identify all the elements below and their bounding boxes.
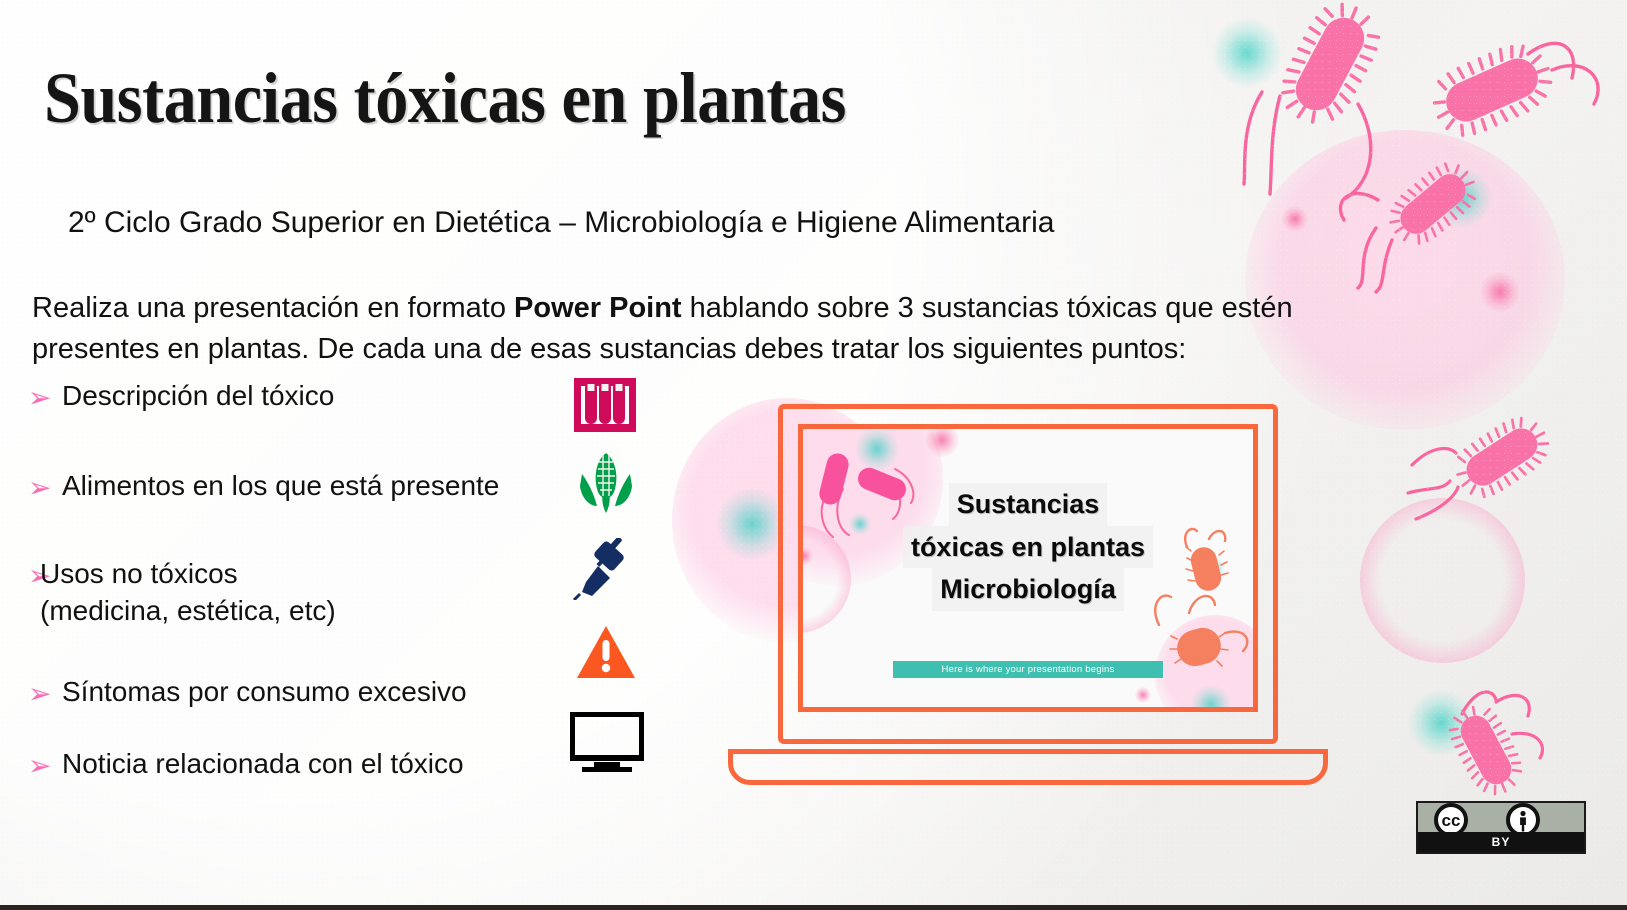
bacteria-right-middle (1370, 395, 1600, 545)
television-icon (570, 712, 644, 772)
laptop-screen: Sustancias tóxicas en plantas Microbiolo… (803, 429, 1253, 707)
laptop-lid-inner-frame: Sustancias tóxicas en plantas Microbiolo… (798, 424, 1258, 712)
screen-caption-bar: Here is where your presentation begins (893, 661, 1163, 678)
corn-icon (578, 452, 634, 514)
bullet-arrow-icon: ➢ (28, 378, 62, 412)
bullet-arrow-icon: ➢ (28, 468, 62, 502)
laptop-base (728, 749, 1328, 785)
list-item-label: Noticia relacionada con el tóxico (62, 746, 464, 783)
list-item-label: Usos no tóxicos (medicina, estética, etc… (40, 556, 336, 630)
bullet-arrow-icon: ➢ (28, 746, 62, 780)
list-item-label: Síntomas por consumo excesivo (62, 674, 467, 711)
laptop-mockup: Sustancias tóxicas en plantas Microbiolo… (722, 404, 1322, 784)
screen-title-line-3: Microbiología (932, 568, 1124, 611)
list-item-label: Alimentos en los que está presente (62, 468, 499, 505)
screen-title-line-2: tóxicas en plantas (903, 526, 1153, 569)
bullet-arrow-icon: ➢ (28, 674, 62, 708)
screen-title-line-1: Sustancias (949, 483, 1108, 526)
instructions-paragraph: Realiza una presentación en formato Powe… (32, 288, 1372, 370)
syringe-icon (572, 538, 636, 600)
screen-title: Sustancias tóxicas en plantas Microbiolo… (803, 483, 1253, 611)
list-item-label: Descripción del tóxico (62, 378, 334, 415)
bacteria-cluster-top-right (1180, 0, 1627, 322)
warning-triangle-icon (575, 624, 637, 680)
slide-bottom-border (0, 905, 1627, 910)
slide-subtitle: 2º Ciclo Grado Superior en Dietética – M… (68, 206, 1054, 240)
slide-canvas: Sustancias tóxicas en plantas 2º Ciclo G… (0, 0, 1627, 905)
test-tubes-icon (568, 378, 642, 434)
license-by-label: BY (1418, 832, 1584, 852)
license-badge-cc-by[interactable]: cc BY (1416, 801, 1586, 854)
page-title: Sustancias tóxicas en plantas (44, 62, 846, 134)
